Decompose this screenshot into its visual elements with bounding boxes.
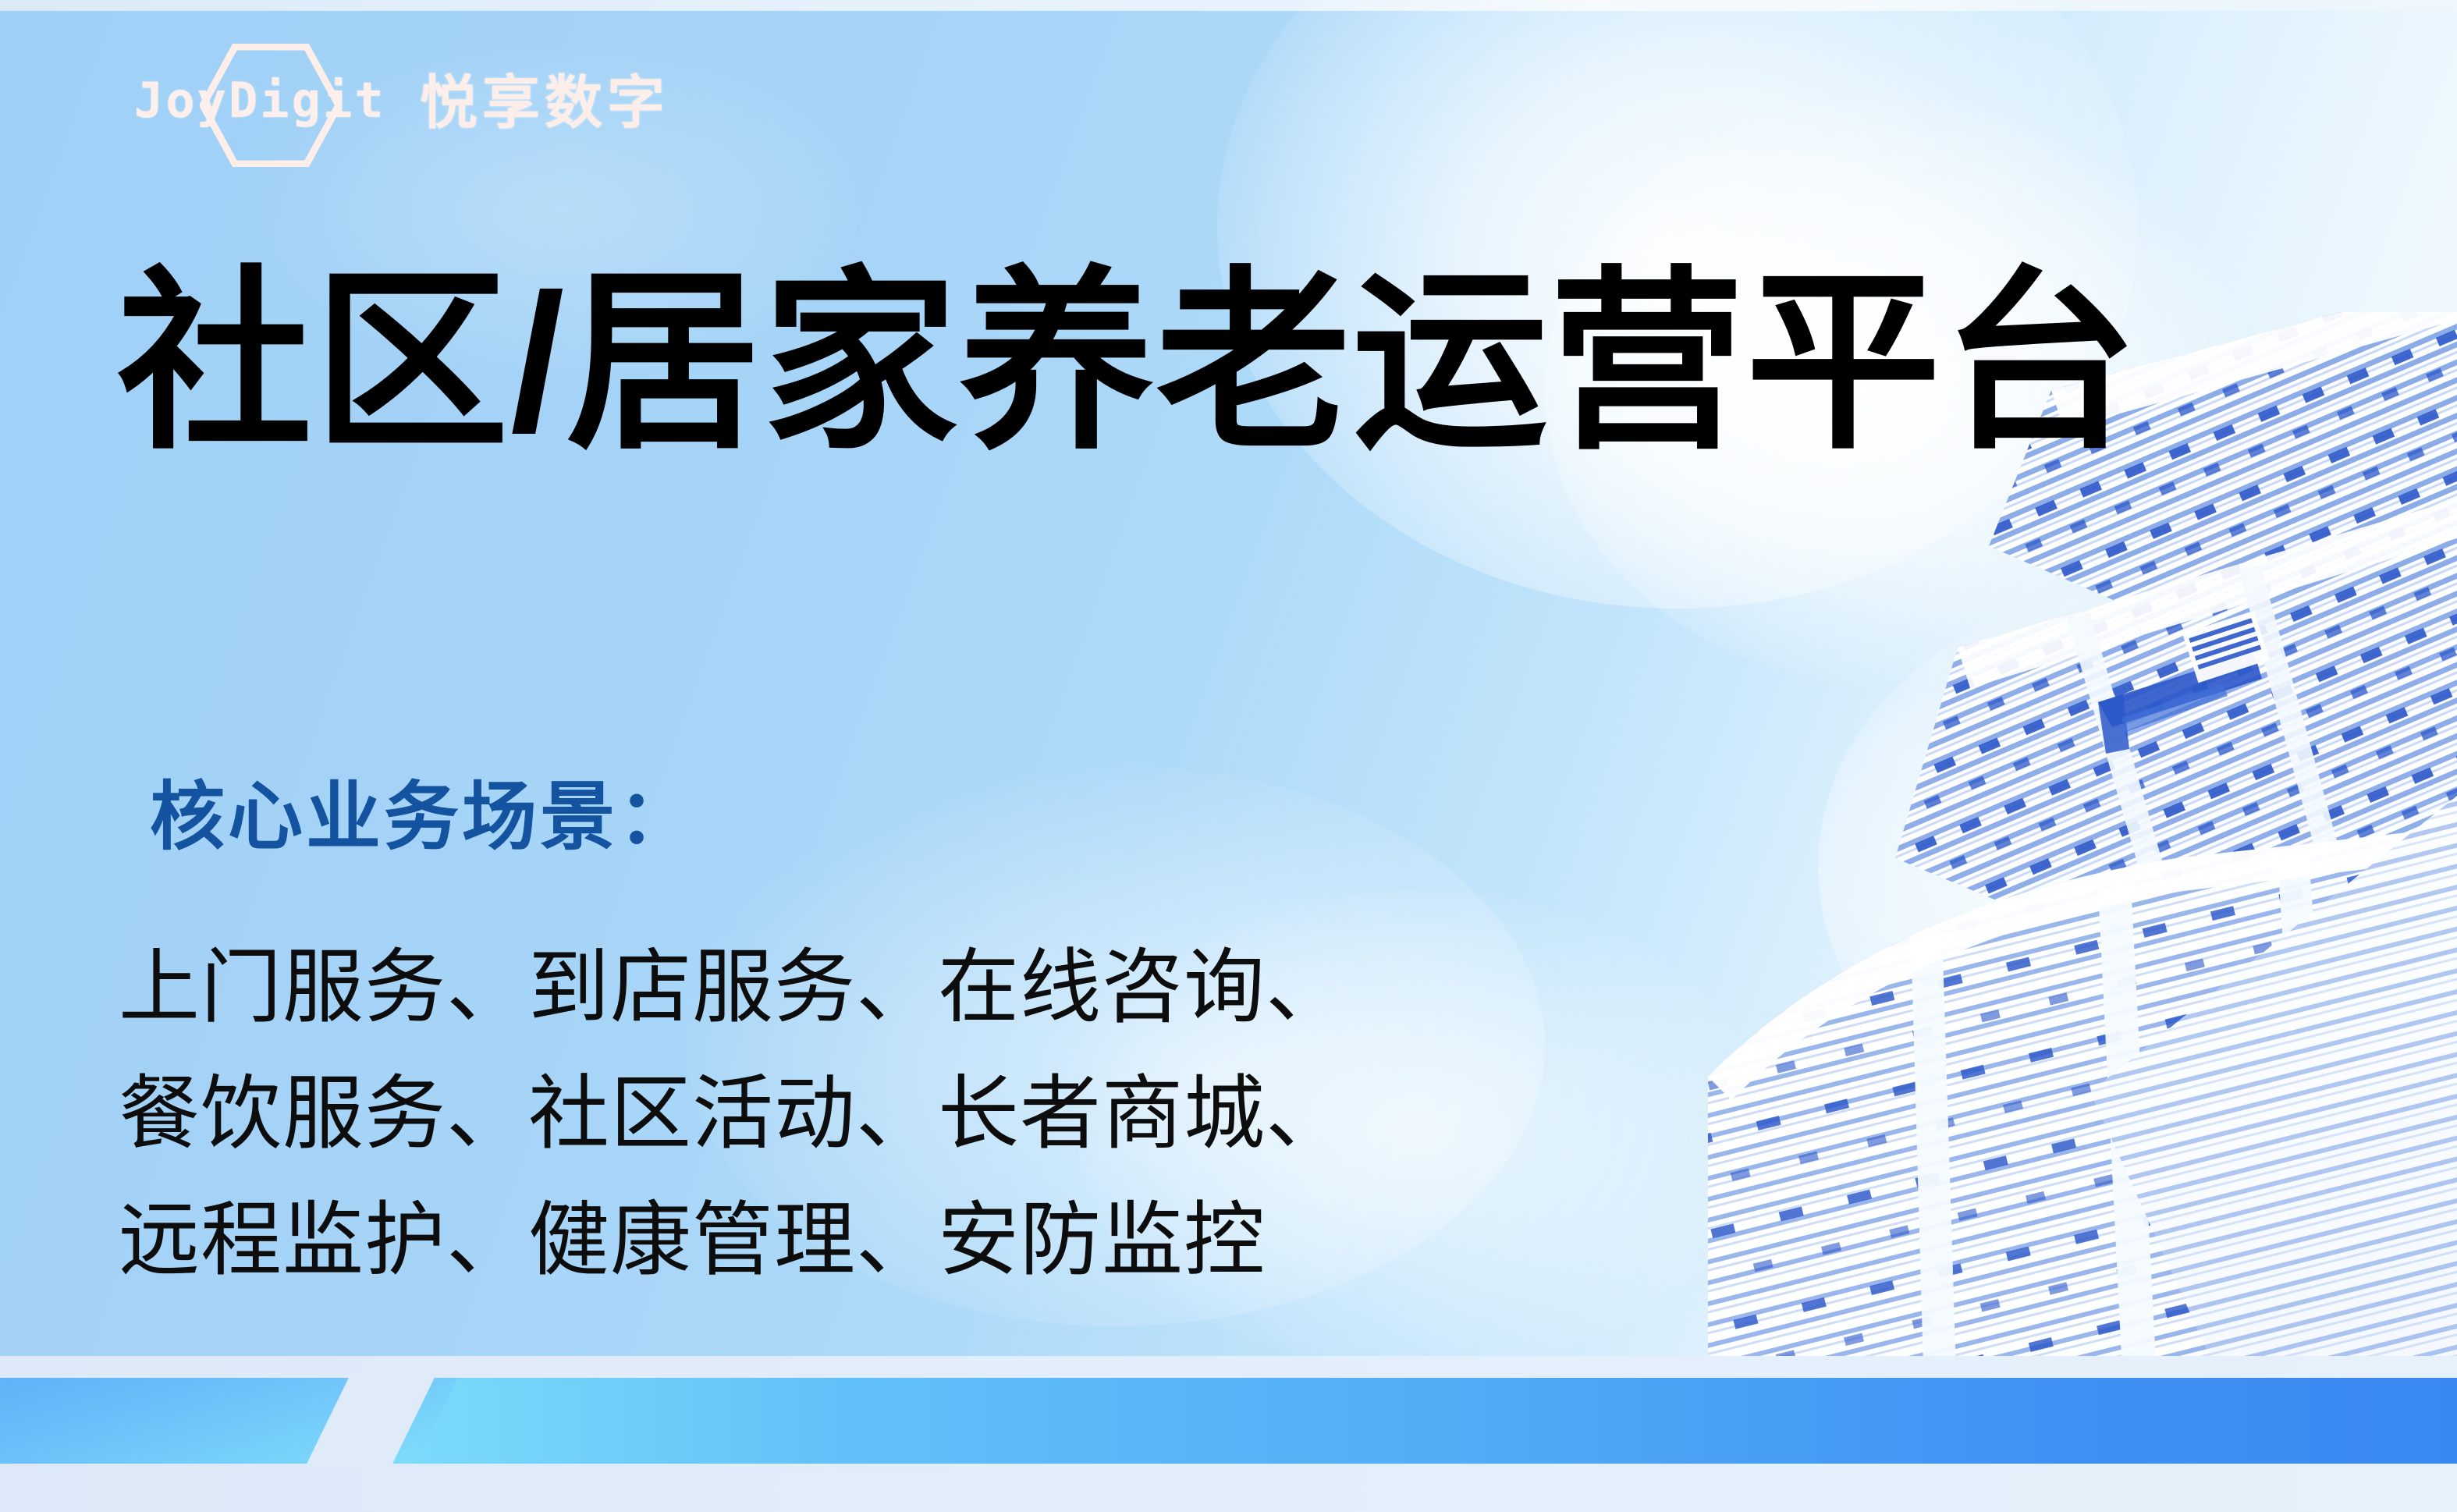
logo-latin-text: JoyDigit: [134, 76, 399, 125]
brand-logo: JoyDigit 悦享数字: [134, 42, 669, 167]
scenario-line-3: 远程监护、健康管理、安防监控: [119, 1177, 1347, 1304]
footer-decorative-band: [0, 1356, 2457, 1512]
page-title: 社区/居家养老运营平台: [117, 259, 2139, 466]
section-heading: 核心业务场景：: [150, 780, 696, 855]
scenario-list: 上门服务、到店服务、在线咨询、 餐饮服务、社区活动、长者商城、 远程监护、健康管…: [119, 925, 1347, 1304]
top-edge-strip: [0, 0, 2457, 11]
slide-root: JoyDigit 悦享数字 社区/居家养老运营平台 核心业务场景： 上门服务、到…: [0, 0, 2457, 1512]
footer-band-right-shape: [382, 1378, 2457, 1464]
logo-mark: JoyDigit: [134, 42, 399, 167]
scenario-line-1: 上门服务、到店服务、在线咨询、: [119, 925, 1347, 1051]
scenario-line-2: 餐饮服务、社区活动、长者商城、: [119, 1051, 1347, 1177]
logo-chinese-text: 悦享数字: [420, 74, 669, 135]
